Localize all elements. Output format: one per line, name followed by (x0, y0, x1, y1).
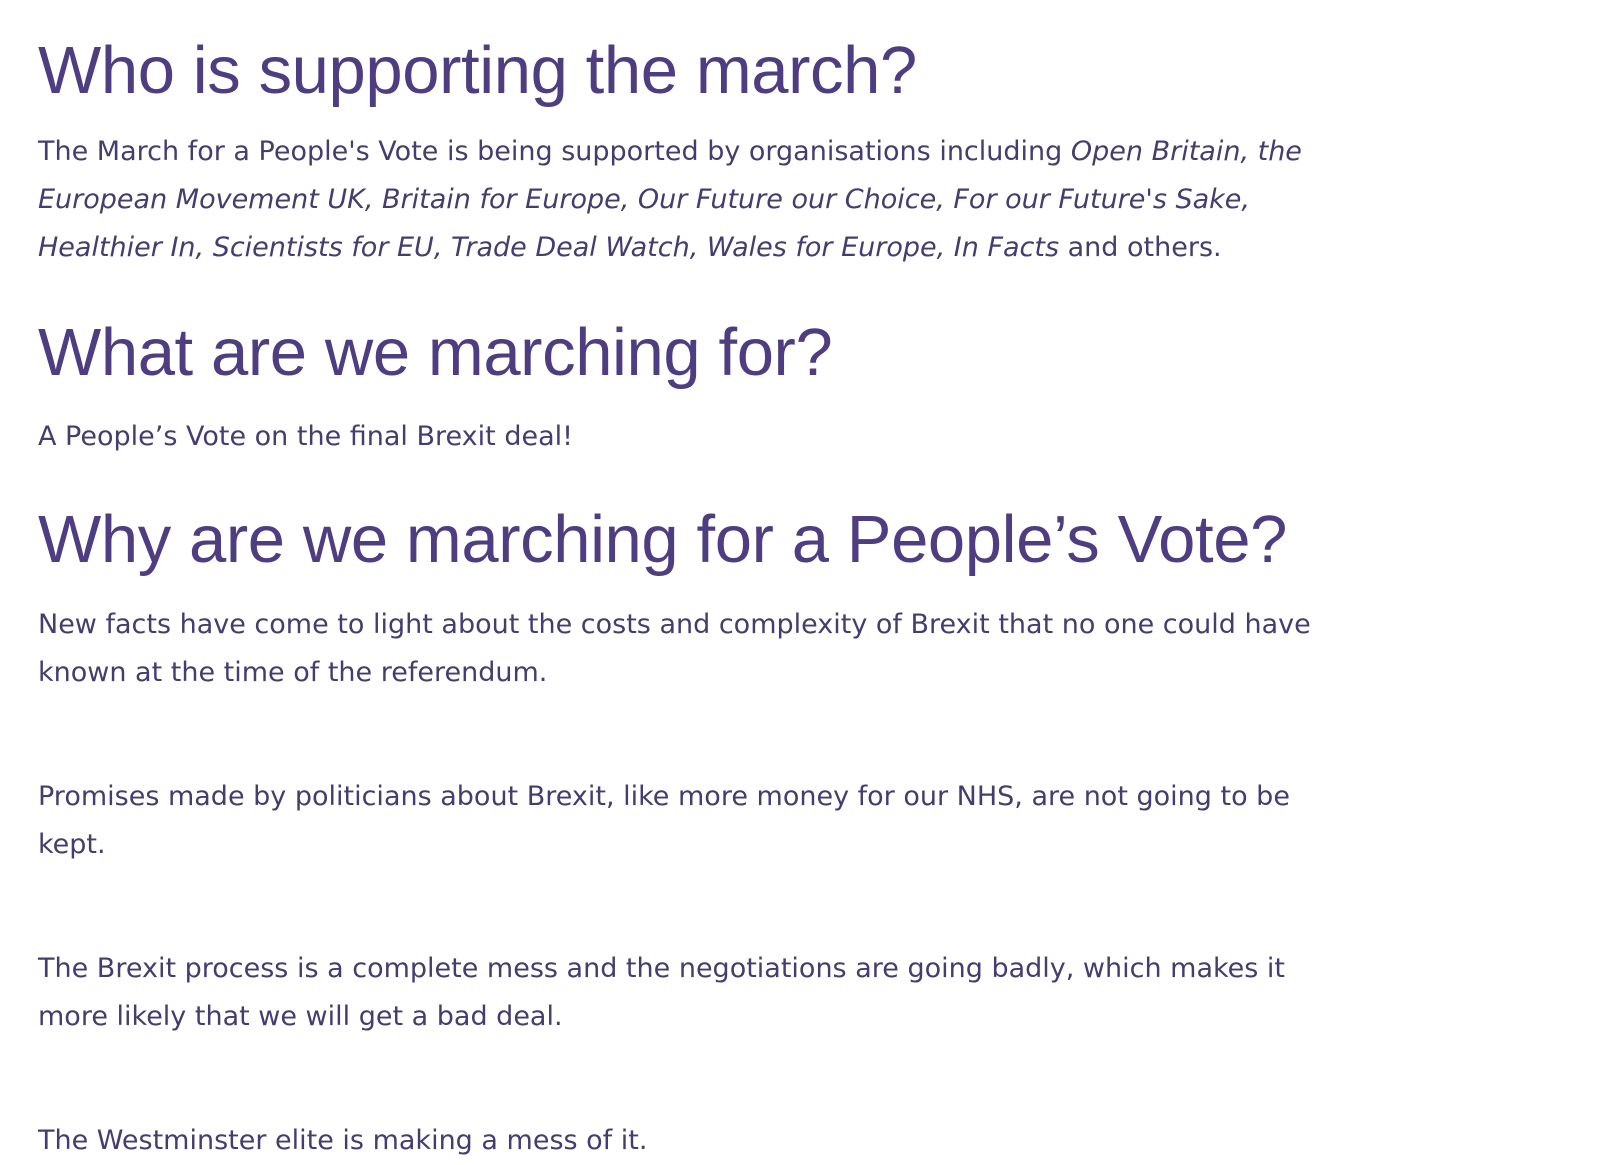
section-heading: Why are we marching for a People’s Vote? (38, 461, 1340, 575)
plain-text: New facts have come to light about the c… (38, 609, 1311, 688)
section-heading: Who is supporting the march? (38, 0, 1340, 106)
section-paragraph: The Westminster elite is making a mess o… (38, 1041, 1340, 1165)
section-heading: What are we marching for? (38, 272, 1340, 388)
plain-text: and others. (1059, 232, 1222, 263)
plain-text: A People’s Vote on the final Brexit deal… (38, 421, 573, 452)
plain-text: The Brexit process is a complete mess an… (38, 953, 1285, 1032)
plain-text: The Westminster elite is making a mess o… (38, 1125, 647, 1156)
section-paragraph: Promises made by politicians about Brexi… (38, 697, 1340, 869)
section-paragraph: The March for a People's Vote is being s… (38, 106, 1340, 272)
faq-section-what-are-we-marching-for: What are we marching for? A People’s Vot… (38, 272, 1340, 462)
section-paragraph: A People’s Vote on the final Brexit deal… (38, 387, 1340, 461)
plain-text: The March for a People's Vote is being s… (38, 136, 1071, 167)
faq-content-page: Who is supporting the march? The March f… (0, 0, 1600, 1165)
section-paragraph: New facts have come to light about the c… (38, 575, 1340, 697)
section-paragraph: The Brexit process is a complete mess an… (38, 869, 1340, 1041)
faq-section-who-is-supporting: Who is supporting the march? The March f… (38, 0, 1340, 272)
faq-section-why-are-we-marching: Why are we marching for a People’s Vote?… (38, 461, 1340, 1165)
plain-text: Promises made by politicians about Brexi… (38, 781, 1290, 860)
